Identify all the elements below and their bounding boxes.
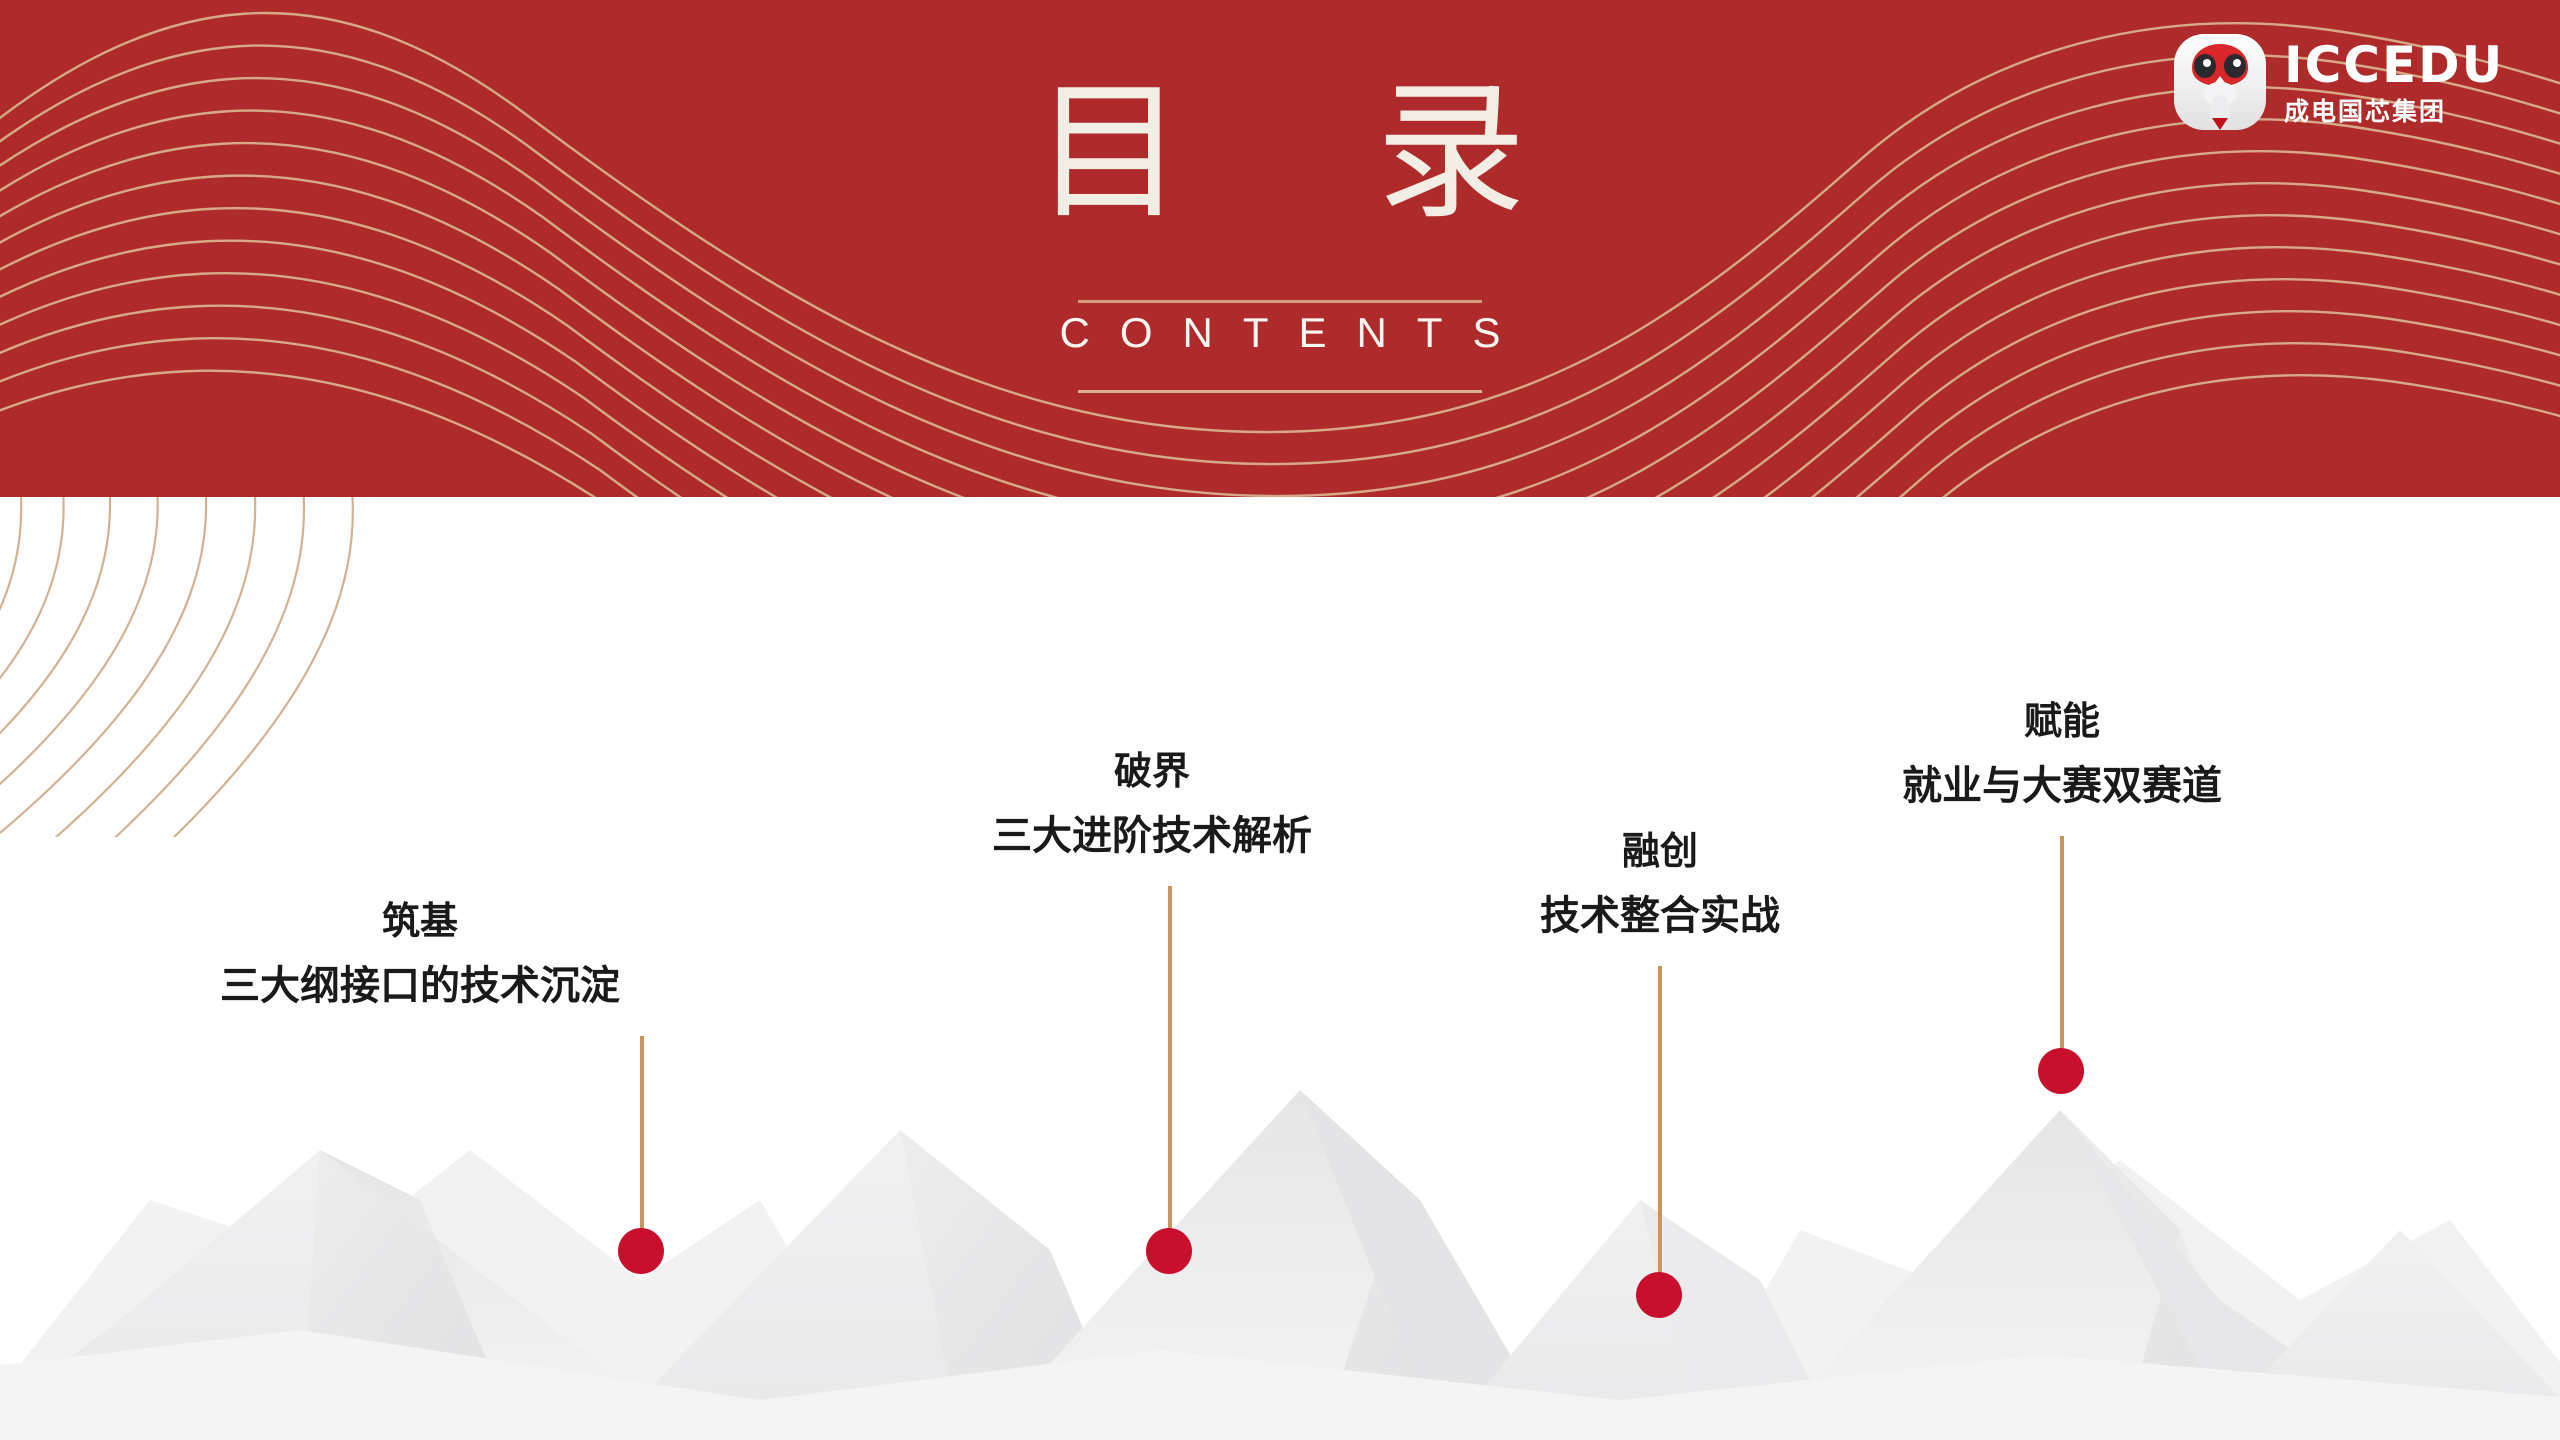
item-kicker: 筑基 [200, 898, 640, 944]
list-item[interactable]: 赋能 就业与大赛双赛道 [1860, 698, 2264, 811]
list-item[interactable]: 筑基 三大纲接口的技术沉淀 [200, 898, 640, 1011]
item-marker-dot[interactable] [1636, 1272, 1682, 1318]
list-item[interactable]: 融创 技术整合实战 [1496, 828, 1824, 941]
item-desc: 就业与大赛双赛道 [1860, 762, 2264, 811]
item-desc: 技术整合实战 [1496, 892, 1824, 941]
item-desc: 三大纲接口的技术沉淀 [200, 962, 640, 1011]
item-marker-dot[interactable] [618, 1228, 664, 1274]
item-kicker: 破界 [948, 748, 1356, 794]
item-connector-line [640, 1036, 644, 1248]
item-kicker: 融创 [1496, 828, 1824, 874]
item-connector-line [1168, 886, 1172, 1248]
list-item[interactable]: 破界 三大进阶技术解析 [948, 748, 1356, 861]
item-marker-dot[interactable] [1146, 1228, 1192, 1274]
item-kicker: 赋能 [1860, 698, 2264, 744]
contents-list: 筑基 三大纲接口的技术沉淀 破界 三大进阶技术解析 融创 技术整合实战 赋能 就… [0, 0, 2560, 1440]
item-connector-line [1658, 966, 1662, 1272]
contents-slide: 目 录 CONTENTS [0, 0, 2560, 1440]
item-connector-line [2060, 836, 2064, 1048]
item-marker-dot[interactable] [2038, 1048, 2084, 1094]
item-desc: 三大进阶技术解析 [948, 812, 1356, 861]
